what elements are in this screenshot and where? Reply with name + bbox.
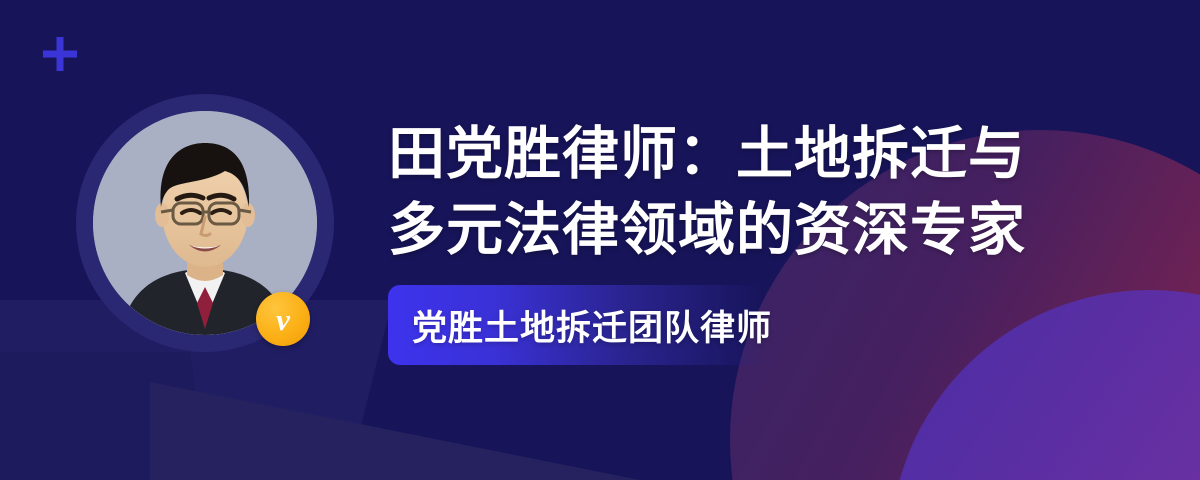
background-polygon-left-small bbox=[0, 352, 210, 480]
background-triangle-bottom bbox=[150, 382, 750, 480]
banner-content: 田党胜律师：土地拆迁与 多元法律领域的资深专家 党胜土地拆迁团队律师 bbox=[388, 116, 1168, 365]
verified-badge-glyph: v bbox=[276, 304, 290, 335]
headline-line-2: 多元法律领域的资深专家 bbox=[388, 192, 1168, 268]
avatar: v bbox=[76, 94, 334, 352]
subtitle-badge: 党胜土地拆迁团队律师 bbox=[388, 285, 768, 365]
lawyer-profile-banner: v 田党胜律师：土地拆迁与 多元法律领域的资深专家 党胜土地拆迁团队律师 bbox=[0, 0, 1200, 480]
headline-line-1: 田党胜律师：土地拆迁与 bbox=[388, 116, 1168, 192]
subtitle-label: 党胜土地拆迁团队律师 bbox=[388, 300, 772, 351]
verified-badge: v bbox=[256, 292, 310, 346]
plus-icon bbox=[42, 36, 78, 72]
